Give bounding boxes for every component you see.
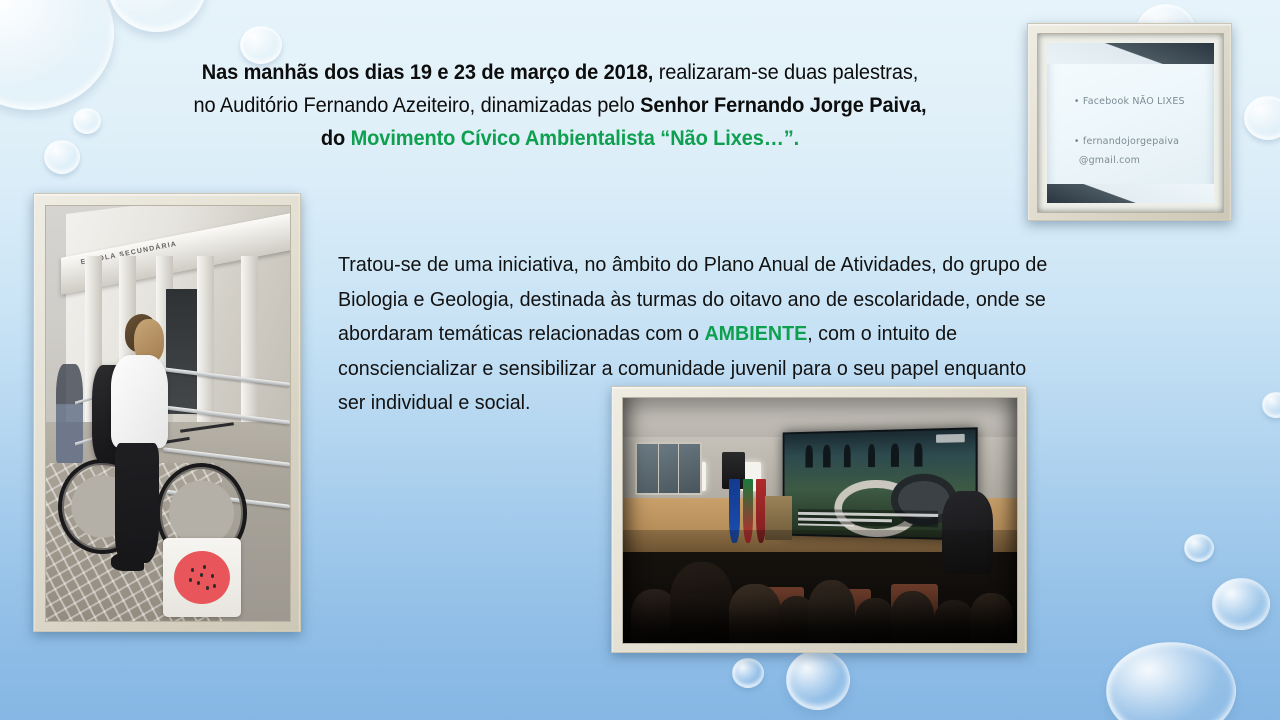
headline-line-2: no Auditório Fernando Azeiteiro, dinamiz… [95, 89, 1025, 122]
slide-bullet-email-cont: @gmail.com [1079, 155, 1140, 166]
headline-movement-name: Movimento Cívico Ambientalista “Não Lixe… [351, 126, 799, 150]
person-with-bicycle [107, 314, 175, 571]
screen-bottom-shadow [1047, 184, 1214, 203]
slide-bullet-facebook-text: Facebook NÃO LIXES [1083, 96, 1185, 107]
bullet-dot: • [1074, 96, 1080, 107]
slide-canvas: Nas manhãs dos dias 19 e 23 de março de … [0, 0, 1280, 720]
body-keyword-ambiente: AMBIENTE [704, 322, 807, 345]
photo-school-entrance[interactable]: ESCOLA SECUNDÁRIA [33, 193, 301, 632]
video-caption-bar [798, 509, 938, 528]
student-head [934, 600, 973, 643]
photo-auditorium-inner [622, 397, 1018, 644]
droplet-decoration [44, 140, 80, 174]
watermelon-bag [163, 538, 241, 617]
slide-bullet-email: • fernandojorgepaiva [1074, 136, 1179, 147]
body-line-3: abordaram temáticas relacionadas com o A… [338, 317, 1137, 352]
video-figure [805, 446, 812, 468]
video-figure [891, 444, 899, 467]
broadcast-logo [936, 434, 965, 443]
droplet-decoration [1106, 642, 1236, 720]
slide-bullet-facebook: • Facebook NÃO LIXES [1074, 96, 1185, 107]
headline-line2-rest: no Auditório Fernando Azeiteiro, dinamiz… [194, 93, 641, 117]
projection-screen: • Facebook NÃO LIXES • fernandojorgepaiv… [1047, 43, 1214, 203]
headline-line2-bold: Senhor Fernando Jorge Paiva, [640, 93, 926, 117]
bullet-dot: • [1074, 136, 1080, 147]
droplet-decoration [732, 658, 764, 688]
video-figure [843, 445, 850, 468]
droplet-decoration [1212, 578, 1270, 630]
shoe [111, 553, 144, 571]
body-line3-a: abordaram temáticas relacionadas com o [338, 322, 704, 345]
body-line-4: consciencializar e sensibilizar a comuni… [338, 352, 1137, 387]
photo-school-inner: ESCOLA SECUNDÁRIA [45, 205, 291, 622]
video-figure [868, 444, 876, 467]
white-tshirt [111, 355, 168, 448]
black-trousers [115, 443, 159, 564]
slide-bullet-email-text: fernandojorgepaiva [1083, 136, 1179, 147]
video-figure [823, 445, 830, 467]
screen-top-shadow [1047, 43, 1214, 64]
student-head [808, 580, 855, 643]
student-head [729, 584, 780, 643]
headline-line-1: Nas manhãs dos dias 19 e 23 de março de … [95, 56, 1025, 89]
body-line-2: Biologia e Geologia, destinada às turmas… [338, 283, 1137, 318]
droplet-decoration [108, 0, 206, 32]
droplet-decoration [1262, 392, 1280, 418]
headline-line3-bold: do [321, 126, 351, 150]
watermelon-graphic [174, 551, 230, 605]
headline-line-3: do Movimento Cívico Ambientalista “Não L… [95, 122, 1025, 155]
headline-line1-bold: Nas manhãs dos dias 19 e 23 de março de … [202, 60, 654, 84]
student-head [891, 591, 934, 643]
student-head [670, 562, 733, 643]
droplet-decoration [786, 650, 850, 710]
body-line3-b: , com o intuito de [807, 322, 957, 345]
photo-auditorium[interactable] [611, 386, 1027, 653]
student-head [855, 598, 894, 643]
droplet-decoration [1244, 96, 1280, 140]
body-line-1: Tratou-se de uma iniciativa, no âmbito d… [338, 248, 1137, 283]
student-head [970, 593, 1013, 643]
headline-line1-rest: realizaram-se duas palestras, [653, 60, 918, 84]
window [635, 442, 702, 495]
headline-text: Nas manhãs dos dias 19 e 23 de março de … [95, 56, 1025, 155]
photo-projected-inner: • Facebook NÃO LIXES • fernandojorgepaiv… [1037, 33, 1224, 213]
droplet-decoration [1184, 534, 1214, 562]
audience-area [623, 530, 1017, 643]
photo-projected-contacts[interactable]: • Facebook NÃO LIXES • fernandojorgepaiv… [1027, 23, 1232, 221]
video-figure [914, 443, 922, 466]
